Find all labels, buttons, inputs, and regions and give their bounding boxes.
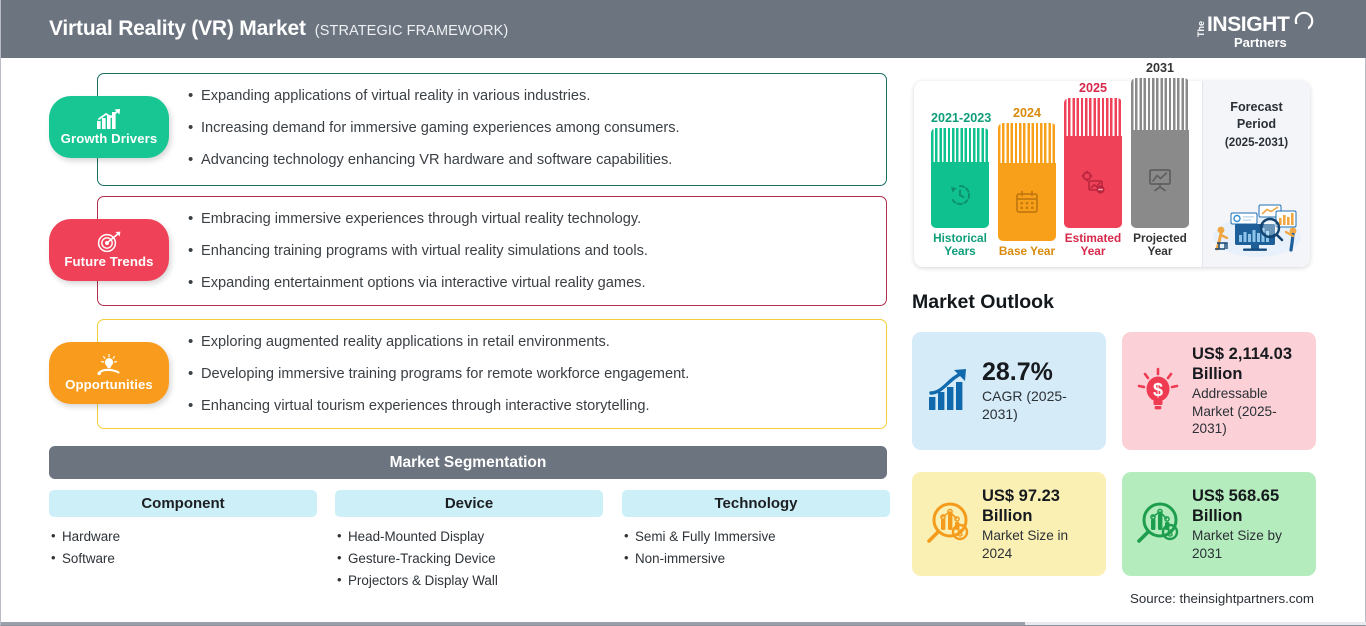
page-header: Virtual Reality (VR) Market (STRATEGIC F… (1, 0, 1366, 58)
chart-bar-solid (998, 163, 1056, 241)
source-attribution: Source: theinsightpartners.com (1130, 591, 1314, 606)
horizontal-scrollbar[interactable] (1, 622, 1366, 625)
chart-bar-stripes (1131, 78, 1189, 130)
stat-text: US$ 568.65 Billion Market Size by 2031 (1192, 486, 1304, 563)
segmentation-header: Device (335, 490, 603, 517)
chart-bar-projected: 2031 Projected Year (1131, 61, 1189, 259)
list-item: Expanding entertainment options via inte… (188, 274, 886, 294)
chart-bar-caption: Historical Years (931, 232, 989, 259)
panel-growth-drivers: Expanding applications of virtual realit… (97, 73, 887, 186)
chart-bar-caption: Projected Year (1131, 232, 1189, 259)
stat-label: Market Size in 2024 (982, 527, 1094, 562)
stat-value: US$ 97.23 Billion (982, 486, 1094, 526)
market-outlook-title: Market Outlook (912, 291, 1054, 314)
market-segmentation-title-bar: Market Segmentation (49, 446, 887, 479)
svg-text:INSIGHT: INSIGHT (1207, 13, 1290, 36)
segmentation-list: Semi & Fully Immersive Non-immersive (622, 517, 890, 566)
badge-growth-drivers[interactable]: Growth Drivers (49, 96, 169, 158)
list-item: Enhancing virtual tourism experiences th… (188, 397, 886, 417)
chart-bar-year-label: 2021-2023 (931, 111, 989, 125)
stat-value: US$ 568.65 Billion (1192, 486, 1304, 526)
forecast-period-label: Forecast Period (1230, 100, 1283, 131)
data-analytics-people-illustration (1207, 197, 1307, 259)
forecast-period-panel: Forecast Period (2025-2031) (1202, 81, 1310, 267)
stat-label: Addressable Market (2025-2031) (1192, 385, 1304, 438)
badge-label: Growth Drivers (61, 131, 158, 146)
chart-bar-year-label: 2024 (998, 106, 1056, 120)
lightbulb-dollar-icon: $ (1134, 367, 1182, 415)
chart-bar-stripes (931, 128, 989, 162)
magnifier-bar-chart-dollar-icon: $ (924, 500, 972, 548)
target-dartboard-icon (96, 231, 122, 253)
chart-bar-stripes (1064, 98, 1122, 136)
forecast-timeline-chart: 2021-2023 Historical Years 2024 (914, 81, 1310, 267)
list-item: Advancing technology enhancing VR hardwa… (188, 151, 886, 171)
list-item: Head-Mounted Display (337, 529, 603, 544)
chart-bar-solid (1131, 130, 1189, 228)
stat-card-market-size-2024: $ US$ 97.23 Billion Market Size in 2024 (912, 472, 1106, 576)
list-item: Semi & Fully Immersive (624, 529, 890, 544)
list-item: Software (51, 551, 317, 566)
stat-text: US$ 2,114.03 Billion Addressable Market … (1192, 344, 1304, 438)
segmentation-column-component: Component Hardware Software (49, 490, 317, 573)
bullet-list-future-trends: Embracing immersive experiences through … (98, 197, 886, 294)
list-item: Gesture-Tracking Device (337, 551, 603, 566)
segmentation-column-device: Device Head-Mounted Display Gesture-Trac… (335, 490, 603, 595)
svg-text:$: $ (957, 529, 963, 540)
chart-bar-estimated: 2025 Estimated Year (1064, 81, 1122, 259)
chart-bar-year-label: 2031 (1131, 61, 1189, 75)
svg-text:$: $ (1153, 380, 1163, 400)
presentation-screen-icon (1147, 166, 1173, 192)
magnifier-bar-chart-dollar-icon: $ (1134, 500, 1182, 548)
chart-bar-shape (1131, 78, 1189, 228)
bar-chart-arrow-up-icon (924, 367, 972, 415)
chart-bar-solid (1064, 136, 1122, 228)
segmentation-column-technology: Technology Semi & Fully Immersive Non-im… (622, 490, 890, 573)
forecast-period-range: (2025-2031) (1209, 135, 1304, 151)
bullet-list-growth-drivers: Expanding applications of virtual realit… (98, 74, 886, 171)
list-item: Expanding applications of virtual realit… (188, 87, 886, 107)
chart-bar-shape (1064, 98, 1122, 228)
page-title: Virtual Reality (VR) Market (49, 17, 306, 41)
chart-bar-solid (931, 162, 989, 228)
list-item: Increasing demand for immersive gaming e… (188, 119, 886, 139)
svg-text:The: The (1196, 21, 1206, 37)
stat-card-market-size-2031: $ US$ 568.65 Billion Market Size by 2031 (1122, 472, 1316, 576)
list-item: Embracing immersive experiences through … (188, 210, 886, 230)
infographic-page: Virtual Reality (VR) Market (STRATEGIC F… (0, 0, 1366, 626)
page-subtitle: (STRATEGIC FRAMEWORK) (315, 23, 509, 39)
stat-text: US$ 97.23 Billion Market Size in 2024 (982, 486, 1094, 563)
chart-bar-historical: 2021-2023 Historical Years (931, 111, 989, 259)
panel-opportunities: Exploring augmented reality applications… (97, 319, 887, 429)
list-item: Enhancing training programs with virtual… (188, 242, 886, 262)
insight-partners-logo: The INSIGHT Partners (1187, 8, 1319, 50)
chart-bar-caption: Base Year (998, 245, 1056, 259)
chart-bar-caption: Estimated Year (1064, 232, 1122, 259)
calendar-icon (1014, 189, 1040, 215)
panel-future-trends: Embracing immersive experiences through … (97, 196, 887, 306)
list-item: Hardware (51, 529, 317, 544)
stat-card-cagr: 28.7% CAGR (2025-2031) (912, 332, 1106, 450)
forecast-period-text: Forecast Period (2025-2031) (1203, 81, 1310, 151)
header-title-group: Virtual Reality (VR) Market (STRATEGIC F… (49, 17, 508, 41)
stat-label: Market Size by 2031 (1192, 527, 1304, 562)
segmentation-header: Component (49, 490, 317, 517)
bar-chart-growth-icon (96, 108, 122, 130)
chart-bar-year-label: 2025 (1064, 81, 1122, 95)
list-item: Non-immersive (624, 551, 890, 566)
svg-text:$: $ (1167, 529, 1173, 540)
chart-bar-shape (931, 128, 989, 228)
segmentation-header-label: Technology (714, 495, 797, 512)
market-segmentation-title: Market Segmentation (390, 454, 547, 472)
list-item: Projectors & Display Wall (337, 573, 603, 588)
forecast-chart-icon (1080, 169, 1106, 195)
bullet-list-opportunities: Exploring augmented reality applications… (98, 320, 886, 417)
stat-value: 28.7% (982, 359, 1094, 387)
badge-future-trends[interactable]: Future Trends (49, 219, 169, 281)
chart-bar-stripes (998, 123, 1056, 163)
list-item: Developing immersive training programs f… (188, 365, 886, 385)
chart-bar-shape (998, 123, 1056, 241)
stat-card-addressable-market: $ US$ 2,114.03 Billion Addressable Marke… (1122, 332, 1316, 450)
segmentation-header: Technology (622, 490, 890, 517)
stat-value: US$ 2,114.03 Billion (1192, 344, 1304, 384)
svg-text:Partners: Partners (1234, 35, 1287, 50)
segmentation-header-label: Device (445, 495, 493, 512)
segmentation-list: Head-Mounted Display Gesture-Tracking De… (335, 517, 603, 588)
chart-bars-area: 2021-2023 Historical Years 2024 (914, 81, 1202, 267)
scrollbar-thumb[interactable] (1, 622, 1025, 625)
badge-label: Future Trends (64, 254, 153, 269)
badge-opportunities[interactable]: Opportunities (49, 342, 169, 404)
history-clock-icon (947, 182, 973, 208)
stat-label: CAGR (2025-2031) (982, 387, 1094, 423)
stat-text: 28.7% CAGR (2025-2031) (982, 359, 1094, 424)
badge-label: Opportunities (65, 377, 153, 392)
segmentation-header-label: Component (141, 495, 224, 512)
segmentation-list: Hardware Software (49, 517, 317, 566)
lightbulb-in-hand-icon (96, 354, 122, 376)
list-item: Exploring augmented reality applications… (188, 333, 886, 353)
chart-bar-base: 2024 B (998, 106, 1056, 259)
